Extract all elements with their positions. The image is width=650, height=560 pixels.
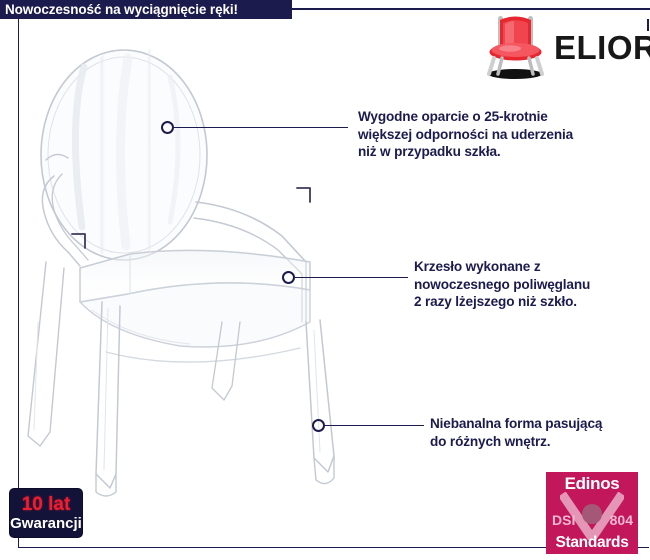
edinos-subtitle: Standards	[546, 534, 638, 551]
edinos-right-code: 804	[610, 513, 633, 528]
brand-name: ELIOR	[554, 31, 650, 64]
callout-material-leader	[295, 277, 408, 279]
header-banner: Nowoczesność na wyciągnięcie ręki!	[0, 0, 292, 19]
banner-rule	[292, 8, 650, 10]
banner-title: Nowoczesność na wyciągnięcie ręki!	[0, 0, 238, 19]
callout-design-dot[interactable]	[312, 419, 325, 432]
edinos-left-code: DSI	[552, 513, 575, 528]
callout-backrest-leader	[174, 127, 348, 129]
warranty-badge: 10 lat Gwarancji	[10, 489, 82, 537]
callout-backrest-text: Wygodne oparcie o 25-krotnie większej od…	[358, 108, 643, 161]
warranty-years: 10 lat	[22, 495, 71, 514]
warranty-label: Gwarancji	[10, 515, 82, 532]
callout-design-text: Niebanalna forma pasującą do różnych wnę…	[430, 415, 645, 450]
brand-logo: ELIOR	[484, 12, 644, 82]
edinos-title: Edinos	[546, 474, 638, 493]
callout-design-leader	[325, 425, 424, 427]
red-chair-icon	[484, 14, 546, 80]
product-infographic: Nowoczesność na wyciągnięcie ręki! ELIOR	[0, 0, 650, 560]
callout-material-text: Krzesło wykonane z nowoczesnego poliwęgl…	[414, 258, 644, 311]
product-image	[10, 22, 355, 522]
edinos-badge: Edinos DSI 804 Standards	[546, 472, 638, 554]
callout-material-dot[interactable]	[282, 271, 295, 284]
callout-backrest-dot[interactable]	[161, 121, 174, 134]
